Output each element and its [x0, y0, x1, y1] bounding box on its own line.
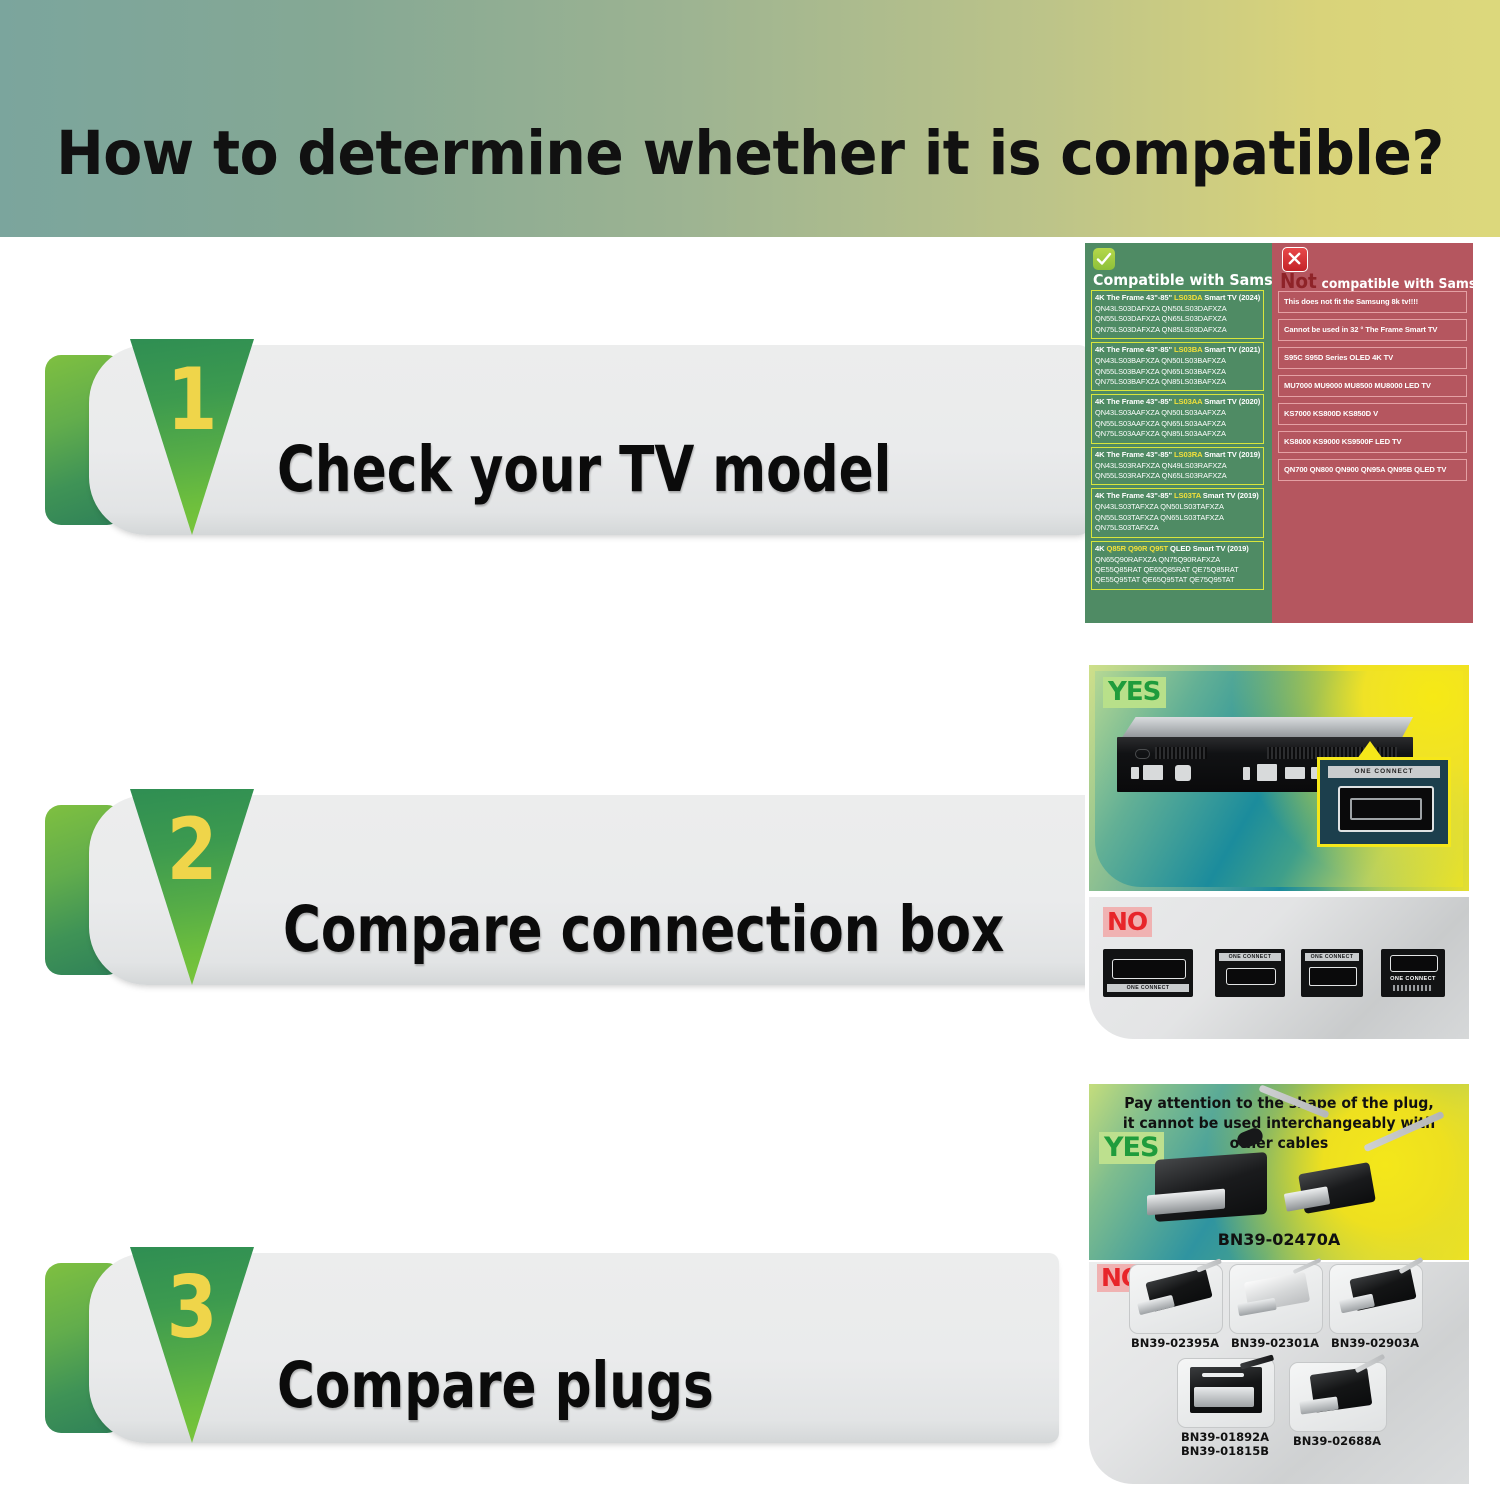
not-compatible-row: KS7000 KS800D KS850D V	[1278, 403, 1467, 425]
bad-port-3-label: ONE CONNECT	[1305, 953, 1359, 961]
not-compatible-row: Cannot be used in 32 ° The Frame Smart T…	[1278, 319, 1467, 341]
compatibility-chart-image: Compatible with Samsung 4K The Frame 43"…	[1085, 243, 1473, 623]
step-1-label: Check your TV model	[277, 433, 891, 506]
bad-plug-1-label: BN39-02395A	[1119, 1336, 1231, 1350]
page-title: How to determine whether it is compatibl…	[53, 118, 1448, 189]
vent-left	[1155, 747, 1207, 759]
step-1-number: 1	[139, 357, 244, 443]
bad-plug-3-label: BN39-02903A	[1319, 1336, 1431, 1350]
compatible-heading: Compatible with Samsung	[1093, 271, 1257, 289]
one-connect-port-callout: ONE CONNECT	[1317, 757, 1451, 847]
compatible-model-row: QN55LS03BAFXZA QN65LS03BAFXZA	[1095, 367, 1260, 377]
compatible-group-title: 4K The Frame 43"-85" LS03TA Smart TV (20…	[1095, 491, 1260, 501]
bad-port-4-subtext	[1393, 985, 1433, 991]
bad-plug-4-stripe	[1202, 1373, 1244, 1377]
port-usb	[1143, 765, 1163, 780]
one-connect-box-top	[1121, 717, 1413, 739]
port-hdmi-1	[1285, 767, 1305, 779]
bad-plug-2-wire	[1293, 1258, 1322, 1274]
compatible-model-row: QN55LS03AAFXZA QN65LS03AAFXZA	[1095, 419, 1260, 429]
bad-plug-2-tip	[1237, 1298, 1277, 1316]
plugs-yes-panel: Pay attention to the shape of the plug, …	[1089, 1084, 1469, 1260]
compatible-group-2: 4K The Frame 43"-85" LS03BA Smart TV (20…	[1091, 342, 1264, 391]
connection-box-yes-panel: YES ONE CONNECT	[1089, 665, 1469, 891]
bad-plug-card-2	[1229, 1264, 1323, 1334]
bad-plug-card-4	[1177, 1358, 1275, 1428]
plugs-comparison-image: Pay attention to the shape of the plug, …	[1085, 1080, 1473, 1490]
not-compatible-row: MU7000 MU9000 MU8500 MU8000 LED TV	[1278, 375, 1467, 397]
bad-port-1-label: ONE CONNECT	[1107, 984, 1189, 992]
compatible-group-3: 4K The Frame 43"-85" LS03AA Smart TV (20…	[1091, 394, 1264, 443]
step-3-number: 3	[139, 1265, 244, 1351]
port-antenna	[1131, 767, 1139, 779]
compatible-model-row: QN43LS03RAFXZA QN49LS03RAFXZA	[1095, 461, 1260, 471]
compatible-model-row: QN55LS03DAFXZA QN65LS03DAFXZA	[1095, 314, 1260, 324]
connection-box-image: YES ONE CONNECT	[1085, 655, 1473, 1045]
not-word: Not	[1280, 269, 1317, 293]
compatible-model-row: QN43LS03AAFXZA QN50LS03AAFXZA	[1095, 408, 1260, 418]
compatible-model-row: QN55LS03TAFXZA QN65LS03TAFXZA	[1095, 513, 1260, 523]
compatible-model-row: QN75LS03AAFXZA QN85LS03AAFXZA	[1095, 429, 1260, 439]
bad-plug-4-tip	[1194, 1387, 1254, 1407]
port-lan	[1257, 764, 1277, 781]
port-ex-link	[1243, 767, 1250, 780]
compatible-with-samsung-word: compatible with Samsung	[1322, 276, 1500, 292]
compatible-model-row: QN75LS03BAFXZA QN85LS03BAFXZA	[1095, 377, 1260, 387]
bad-plug-card-1	[1129, 1264, 1223, 1334]
power-socket	[1135, 749, 1150, 759]
not-compatible-row: QN700 QN800 QN900 QN95A QN95B QLED TV	[1278, 459, 1467, 481]
compatible-column: Compatible with Samsung 4K The Frame 43"…	[1085, 243, 1272, 623]
compatible-model-row: QN43LS03DAFXZA QN50LS03DAFXZA	[1095, 304, 1260, 314]
compatible-group-title: 4K The Frame 43"-85" LS03RA Smart TV (20…	[1095, 450, 1260, 460]
bad-plug-card-5	[1289, 1362, 1387, 1432]
compatible-model-row: QN43LS03BAFXZA QN50LS03BAFXZA	[1095, 356, 1260, 366]
bad-port-4: ONE CONNECT	[1381, 949, 1445, 997]
step-3-label: Compare plugs	[277, 1349, 714, 1422]
plugs-no-panel: NO BN39-02395A BN39-02301A BN39-02903A	[1089, 1262, 1469, 1484]
bad-port-1: ONE CONNECT	[1103, 949, 1193, 997]
bad-plug-5-label: BN39-02688A	[1279, 1434, 1395, 1448]
compatible-group-title: 4K The Frame 43"-85" LS03DA Smart TV (20…	[1095, 293, 1260, 303]
bad-port-2-label: ONE CONNECT	[1219, 953, 1281, 961]
bad-port-4-label: ONE CONNECT	[1385, 975, 1441, 983]
page-header: How to determine whether it is compatibl…	[0, 0, 1500, 237]
compatible-model-row: QN75LS03TAFXZA	[1095, 523, 1260, 533]
step-2-number: 2	[139, 807, 244, 893]
compatible-group-5: 4K The Frame 43"-85" LS03TA Smart TV (20…	[1091, 488, 1264, 537]
one-connect-callout-label: ONE CONNECT	[1328, 766, 1440, 778]
step-2-label: Compare connection box	[283, 893, 1004, 966]
compatible-model-row: QN55LS03RAFXZA QN65LS03RAFXZA	[1095, 471, 1260, 481]
bad-plug-2-label: BN39-02301A	[1219, 1336, 1331, 1350]
connection-box-no-panel: NO ONE CONNECT ONE CONNECT ONE CONNECT O…	[1089, 897, 1469, 1039]
not-compatible-heading: Not compatible with Samsung	[1280, 269, 1464, 293]
bad-plug-1-wire	[1196, 1258, 1222, 1272]
plugs-yes-badge: YES	[1099, 1132, 1164, 1164]
compatible-group-4: 4K The Frame 43"-85" LS03RA Smart TV (20…	[1091, 447, 1264, 486]
one-connect-callout-port	[1338, 786, 1434, 832]
bad-plug-1-tip	[1137, 1295, 1175, 1315]
compatible-model-row: QN75LS03DAFXZA QN85LS03DAFXZA	[1095, 325, 1260, 335]
compatible-group-title: 4K The Frame 43"-85" LS03BA Smart TV (20…	[1095, 345, 1260, 355]
no-badge: NO	[1103, 907, 1152, 937]
compatible-model-row: QN43LS03TAFXZA QN50LS03TAFXZA	[1095, 502, 1260, 512]
check-icon	[1093, 248, 1115, 270]
bad-port-3: ONE CONNECT	[1301, 949, 1363, 997]
compatible-group-1: 4K The Frame 43"-85" LS03DA Smart TV (20…	[1091, 290, 1264, 339]
compatible-group-title: 4K Q85R Q90R Q95T QLED Smart TV (2019)	[1095, 544, 1260, 554]
bad-port-2: ONE CONNECT	[1215, 949, 1285, 997]
not-compatible-row: S95C S95D Series OLED 4K TV	[1278, 347, 1467, 369]
compatible-model-row: QE55Q85RAT QE65Q85RAT QE75Q85RAT	[1095, 565, 1260, 575]
port-optical	[1175, 765, 1191, 781]
compatible-group-title: 4K The Frame 43"-85" LS03AA Smart TV (20…	[1095, 397, 1260, 407]
compatible-group-6: 4K Q85R Q90R Q95T QLED Smart TV (2019)QN…	[1091, 541, 1264, 590]
bad-plug-4-label-line-2: BN39-01815B	[1169, 1444, 1281, 1458]
bad-plug-5-tip	[1299, 1396, 1338, 1414]
not-compatible-column: Not compatible with Samsung This does no…	[1272, 243, 1473, 623]
not-compatible-row: KS8000 KS9000 KS9500F LED TV	[1278, 431, 1467, 453]
bad-plug-card-3	[1329, 1264, 1423, 1334]
compatible-model-row: QN65Q90RAFXZA QN75Q90RAFXZA	[1095, 555, 1260, 565]
not-compatible-row: This does not fit the Samsung 8k tv!!!!	[1278, 291, 1467, 313]
bad-plug-5-wire	[1355, 1354, 1386, 1373]
compatible-model-row: QE55Q95TAT QE65Q95TAT QE75Q95TAT	[1095, 575, 1260, 585]
yes-badge: YES	[1103, 677, 1166, 708]
bad-plug-4-label-line-1: BN39-01892A	[1169, 1430, 1281, 1444]
good-plug-part-number: BN39-02470A	[1089, 1230, 1469, 1249]
